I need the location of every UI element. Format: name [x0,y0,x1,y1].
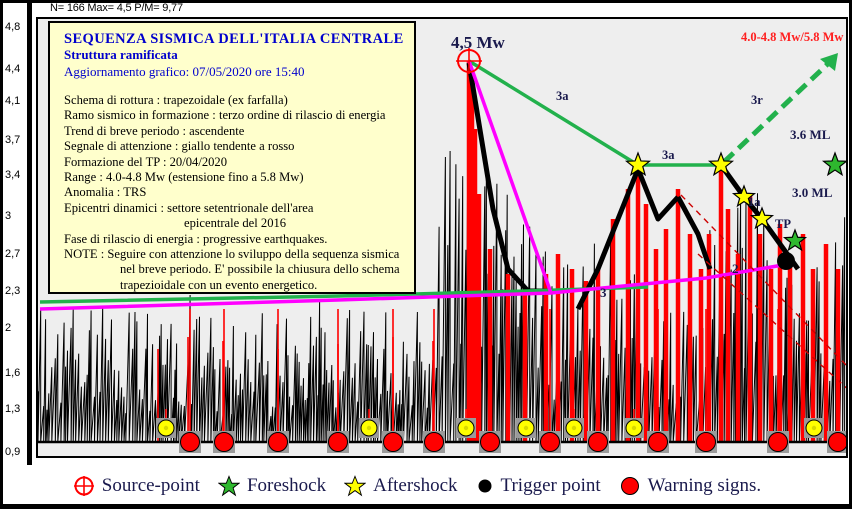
annotation-range-top: 4.0-4.8 Mw/5.8 Mw [741,30,843,45]
legend-item-trigger-point: Trigger point [476,475,601,497]
y-axis-line [27,3,32,473]
legend-item-source-point: Source-point [73,475,200,497]
y-tick-10: 1,3 [5,403,20,415]
info-line-5: Range : 4.0-4.8 Mw (estensione fino a 5.… [64,170,404,185]
aftershock-flag-center [367,426,371,430]
green-arrow-head [820,53,838,71]
warning-sign-marker[interactable] [697,433,716,452]
info-line-9: Fase di rilascio di energia : progressiv… [64,232,404,247]
event-markers [456,48,846,270]
annotation-peak: 4,5 Mw [451,33,505,53]
warning-sign-marker[interactable] [181,433,200,452]
source-point-icon [73,475,95,497]
y-tick-9: 1,6 [5,367,20,379]
warning-sign-icon [619,475,641,497]
info-subtitle: Struttura ramificata [64,47,404,63]
green-trapezoid-branch [469,61,721,165]
info-line-7: Epicentri dinamici : settore setentriona… [64,201,404,216]
legend: Source-point Foreshock Aftershock Trigge… [3,465,849,506]
aftershock-flag-center [812,426,816,430]
trigger-point-marker[interactable] [777,252,795,270]
info-line-8: epicentrale del 2016 [64,216,404,231]
y-tick-6: 2,7 [5,248,20,260]
info-body: Schema di rottura : trapezoidale (ex far… [64,93,404,293]
trigger-point-icon [476,477,494,495]
info-panel: SEQUENZA SISMICA DELL'ITALIA CENTRALE St… [48,21,416,294]
annotation-branch-3: 3 [600,285,607,301]
info-line-0: Schema di rottura : trapezoidale (ex far… [64,93,404,108]
foreshock-star-icon [218,475,240,497]
warning-sign-marker[interactable] [329,433,348,452]
y-tick-8: 2 [5,322,11,334]
info-updated: Aggiornamento grafico: 07/05/2020 ore 15… [64,63,404,80]
annotation-foreshock-30: 3.0 ML [792,185,832,201]
y-tick-3: 3,7 [5,134,20,146]
legend-label-trigger-point: Trigger point [501,475,601,497]
y-tick-5: 3 [5,210,11,222]
info-line-11: nel breve periodo. E' possibile la chius… [64,262,404,277]
warning-sign-marker[interactable] [384,433,403,452]
info-line-12: trapezioidale con un evento energetico. [64,278,404,293]
warning-sign-marker[interactable] [215,433,234,452]
info-title: SEQUENZA SISMICA DELL'ITALIA CENTRALE [64,31,404,47]
annotation-branch-2: 2 [732,261,739,277]
legend-label-aftershock: Aftershock [373,475,457,497]
info-line-3: Segnale di attenzione : giallo tendente … [64,139,404,154]
info-line-4: Formazione del TP : 20/04/2020 [64,155,404,170]
legend-label-warning-signs: Warning signs. [648,475,762,497]
aftershock-flag-center [464,426,468,430]
y-tick-11: 0,9 [5,446,20,458]
annotation-branch-1a: 1a [748,195,761,210]
info-line-1: Ramo sismico in formazione : terzo ordin… [64,108,404,123]
aftershock-flag-center [164,426,168,430]
annotation-trigger-point: TP [775,217,791,232]
warning-sign-marker[interactable] [829,433,847,452]
y-tick-7: 2,3 [5,285,20,297]
seismic-chart-window: N= 166 Max= 4,5 P/M= 9,77 4,84,44,13,73,… [0,0,852,509]
aftershock-flag-center [632,426,636,430]
info-line-6: Anomalia : TRS [64,185,404,200]
y-tick-0: 4,8 [5,21,20,33]
aftershock-flag-center [524,426,528,430]
legend-item-warning-signs: Warning signs. [619,475,762,497]
warning-sign-marker[interactable] [481,433,500,452]
warning-sign-marker[interactable] [425,433,444,452]
warning-sign-marker[interactable] [649,433,668,452]
annotation-branch-3a-1: 3a [556,89,569,104]
info-line-2: Trend di breve periodo : ascendente [64,124,404,139]
info-line-10: NOTE : Seguire con attenzione lo svilupp… [64,247,404,262]
annotation-foreshock-36: 3.6 ML [790,127,830,143]
header-readout: N= 166 Max= 4,5 P/M= 9,77 [50,2,183,14]
legend-item-aftershock: Aftershock [344,475,457,497]
annotation-branch-3a-2: 3a [662,148,675,163]
warning-sign-marker[interactable] [541,433,560,452]
black-branch-segment [678,197,710,269]
warning-sign-marker[interactable] [269,433,288,452]
magenta-descend-branch [469,61,551,293]
foreshock-star-marker[interactable] [824,153,846,175]
y-tick-1: 4,4 [5,63,20,75]
green-dashed-branch-3r [724,59,833,162]
legend-label-source-point: Source-point [102,475,200,497]
aftershock-flag-center [572,426,576,430]
annotation-branch-3r: 3r [751,93,763,108]
warning-sign-marker[interactable] [769,433,788,452]
aftershock-star-icon [344,475,366,497]
bottom-rule [3,504,852,509]
warning-sign-marker[interactable] [589,433,608,452]
y-tick-2: 4,1 [5,95,20,107]
legend-label-foreshock: Foreshock [247,475,326,497]
y-tick-4: 3,4 [5,169,20,181]
legend-item-foreshock: Foreshock [218,475,326,497]
